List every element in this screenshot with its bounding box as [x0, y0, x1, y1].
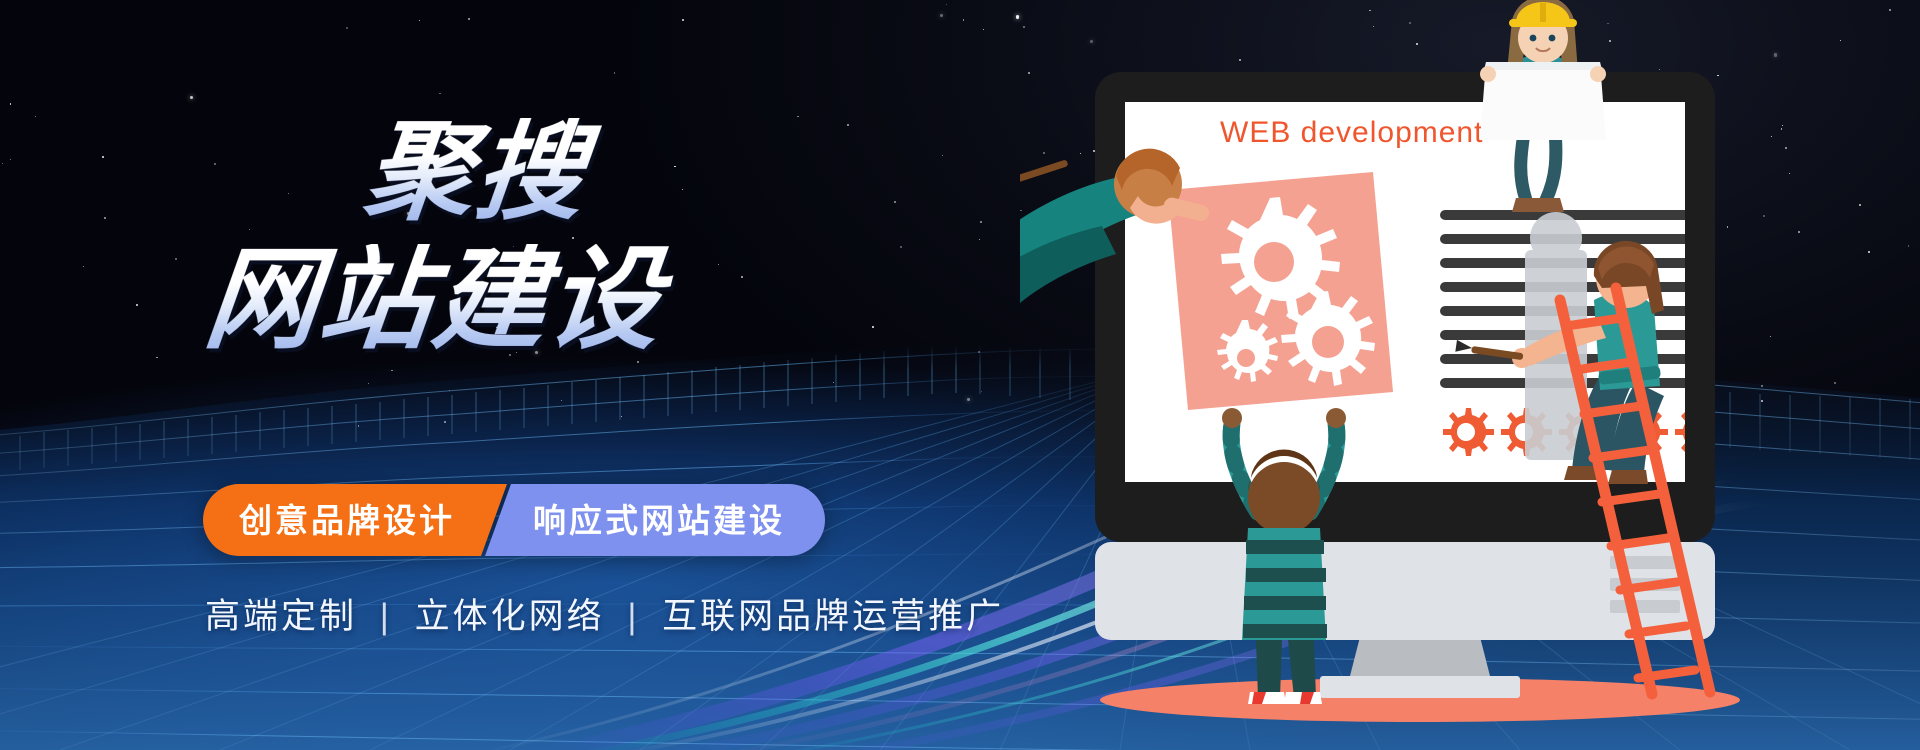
tagline-part-2: 立体化网络	[415, 597, 605, 636]
headline-line-1: 聚搜	[360, 118, 931, 226]
promo-banner: 聚搜 网站建设 创意品牌设计 响应式网站建设 高端定制 | 立体化网络 | 互联…	[0, 0, 1920, 750]
badge-responsive-website-build[interactable]: 响应式网站建设	[485, 484, 825, 556]
headline-group: 聚搜 网站建设	[200, 118, 920, 356]
tagline-part-3: 互联网品牌运营推广	[662, 597, 1004, 636]
shoes	[1512, 198, 1564, 212]
blueprint-sheet	[1480, 62, 1606, 140]
tagline: 高端定制 | 立体化网络 | 互联网品牌运营推广	[205, 588, 1004, 639]
yellow-hard-hat	[1509, 2, 1577, 27]
head	[1248, 462, 1320, 534]
tagline-separator-2: |	[627, 597, 639, 636]
headline-block: 聚搜 网站建设 创意品牌设计 响应式网站建设 高端定制 | 立体化网络 | 互联…	[0, 0, 900, 750]
tagline-separator-1: |	[380, 597, 392, 636]
paint-brush-left	[1020, 159, 1069, 190]
badge-group: 创意品牌设计 响应式网站建设	[203, 484, 825, 556]
headline-line-2: 网站建设	[200, 244, 932, 356]
screen-title: WEB development	[1220, 116, 1483, 149]
tagline-part-1: 高端定制	[205, 597, 357, 636]
web-development-illustration: WEB development	[1020, 0, 1920, 750]
badge-creative-brand-design[interactable]: 创意品牌设计	[203, 484, 507, 556]
